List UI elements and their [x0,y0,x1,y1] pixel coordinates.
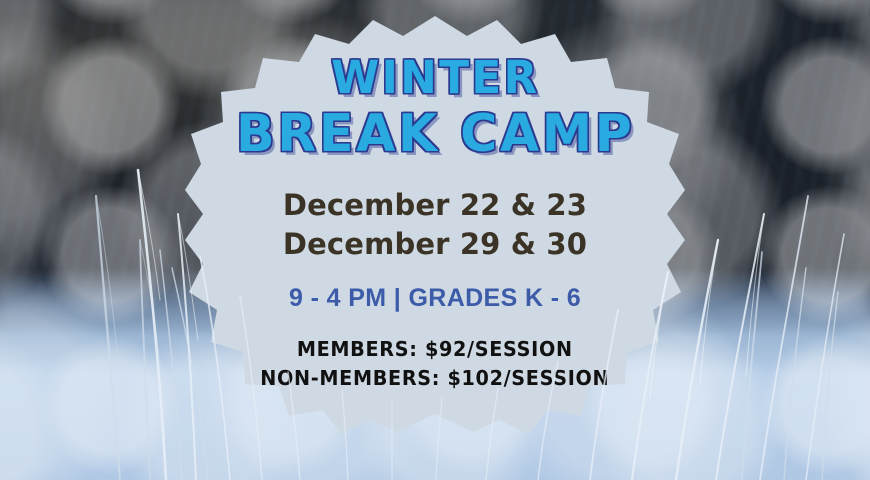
date-line-2: December 29 & 30 [283,225,587,264]
date-line-1: December 22 & 23 [283,186,587,225]
price-non-members: NON-MEMBERS: $102/SESSION [260,364,609,392]
price-members: MEMBERS: $92/SESSION [260,335,609,363]
starburst-badge: WINTER BREAK CAMP December 22 & 23 Decem… [185,14,685,434]
title-line-1: WINTER [236,56,634,100]
winter-break-camp-poster: WINTER BREAK CAMP December 22 & 23 Decem… [0,0,870,480]
camp-dates: December 22 & 23 December 29 & 30 [283,186,587,263]
poster-title: WINTER BREAK CAMP [230,56,641,160]
pricing-block: MEMBERS: $92/SESSION NON-MEMBERS: $102/S… [253,335,617,392]
schedule-and-grades: 9 - 4 PM | GRADES K - 6 [289,284,581,313]
title-line-2: BREAK CAMP [236,109,634,160]
